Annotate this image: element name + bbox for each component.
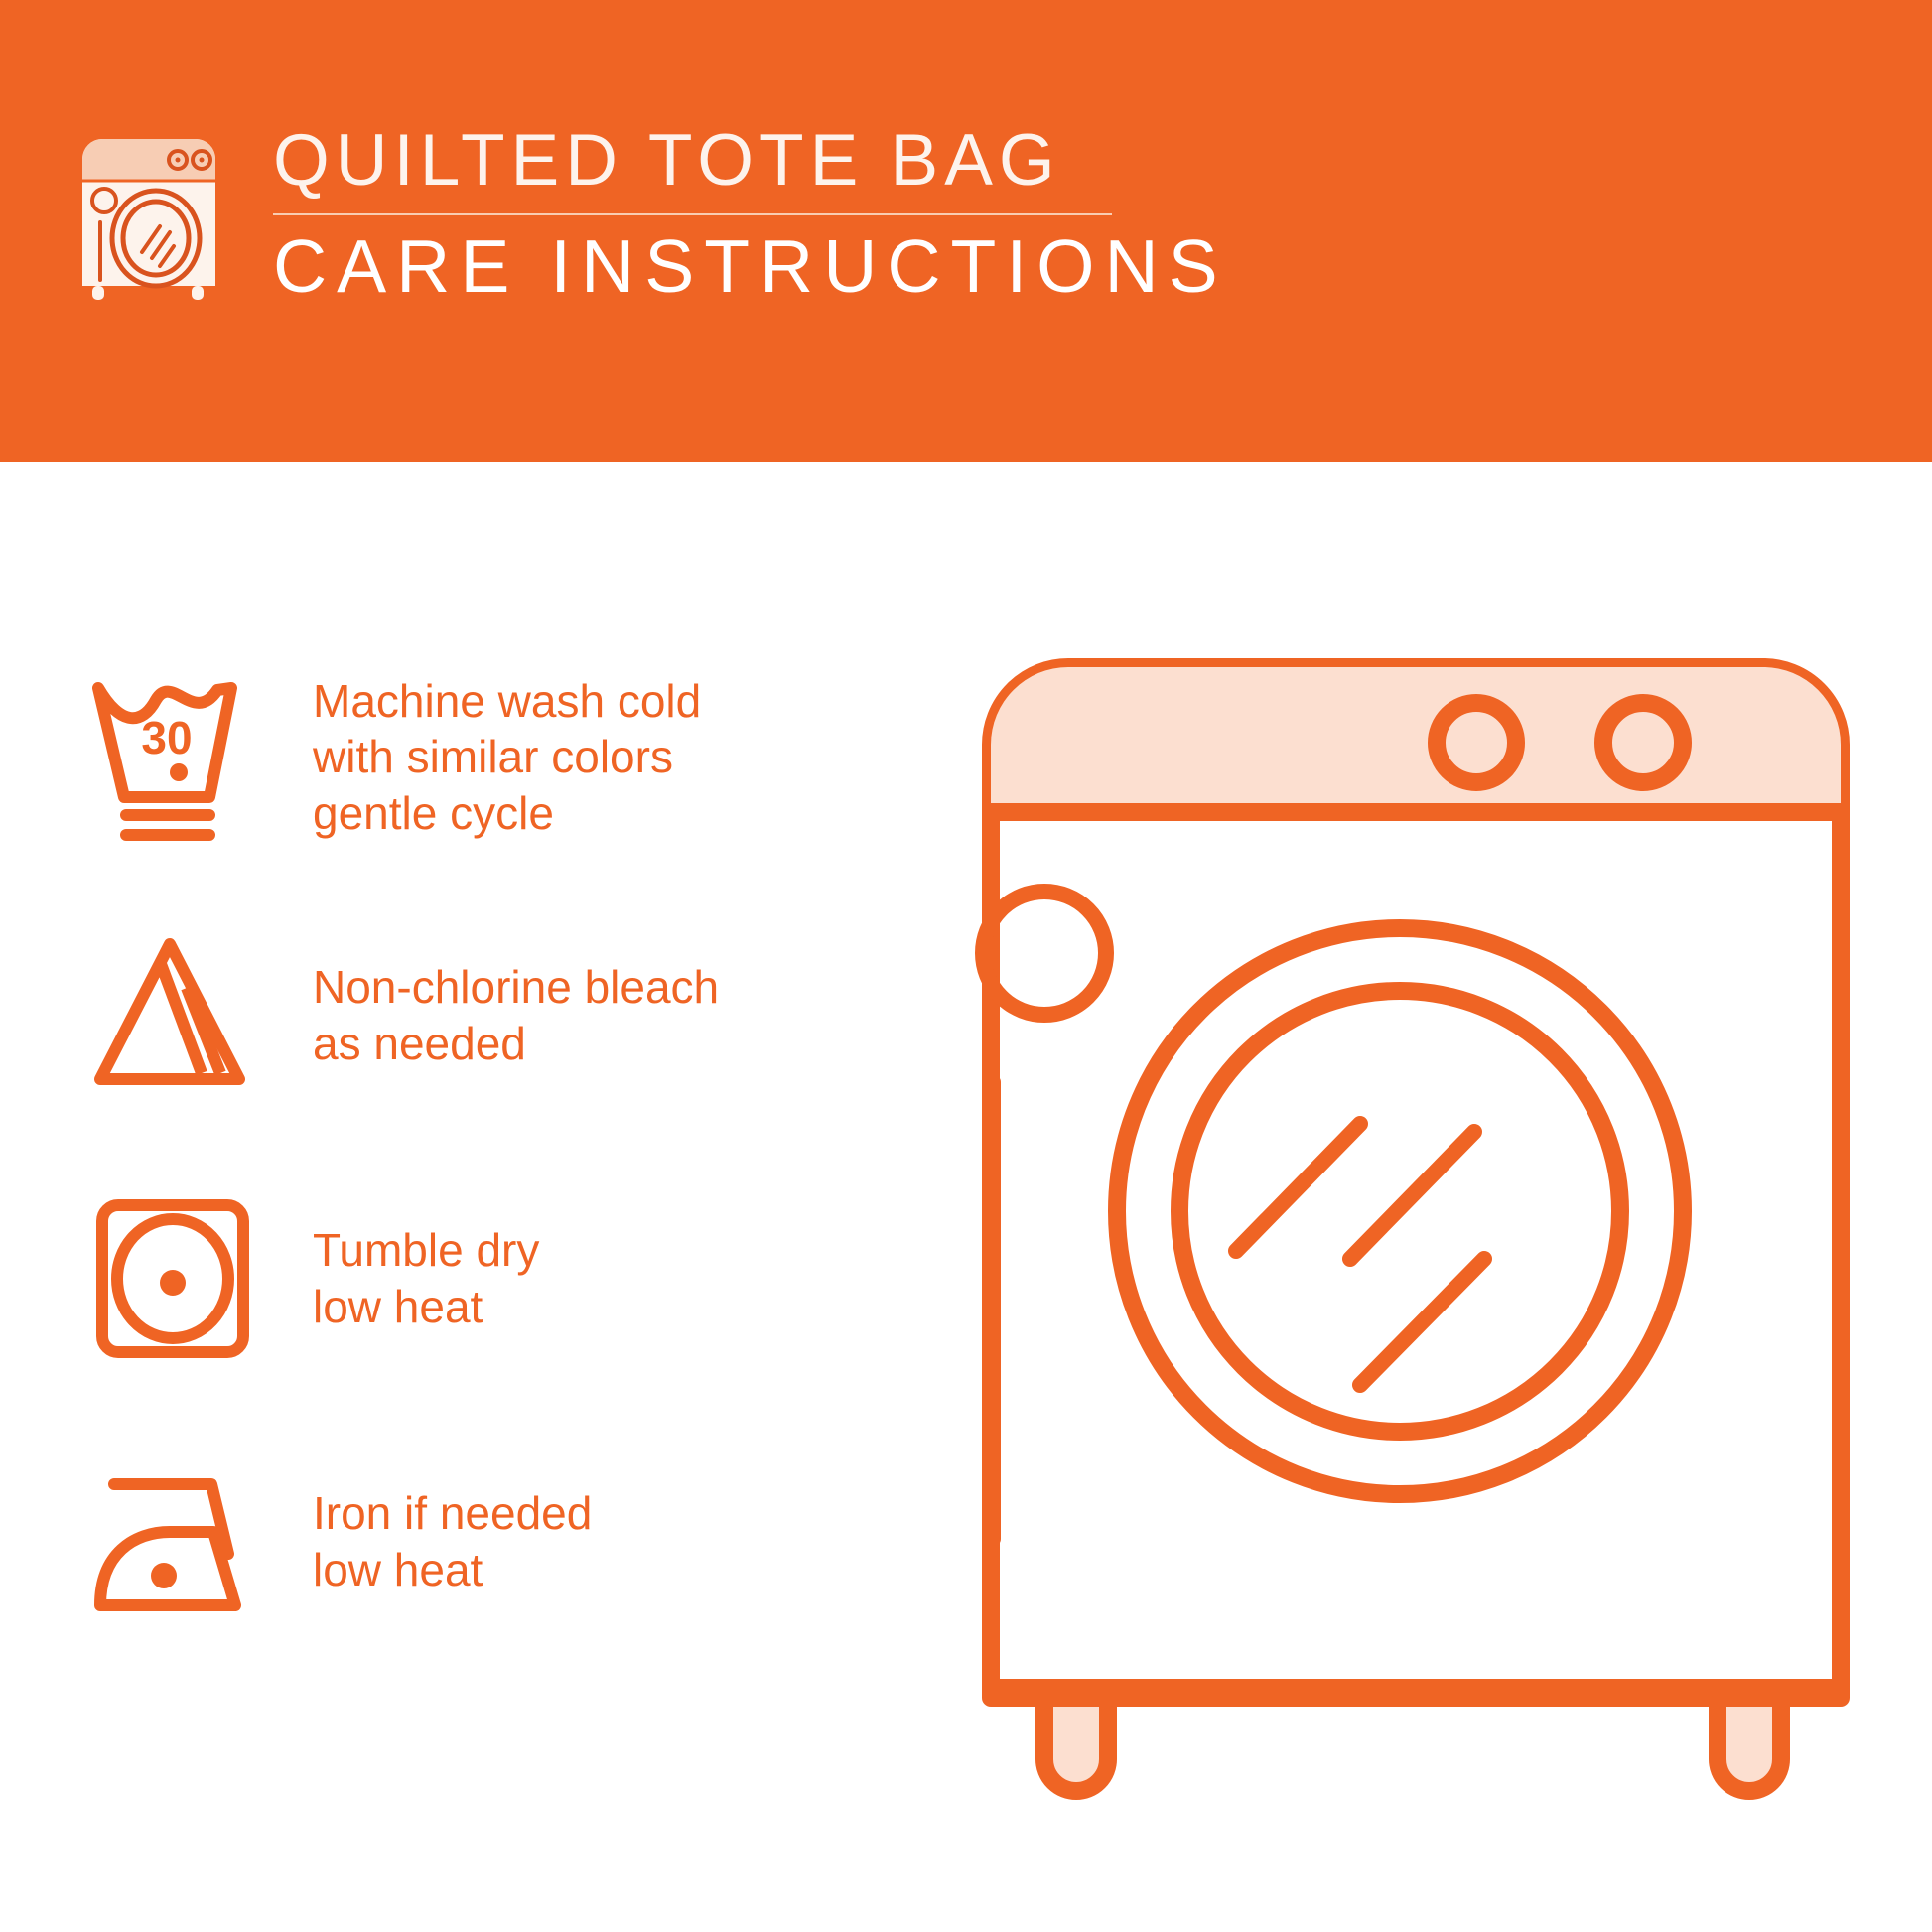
title-divider <box>273 213 1112 215</box>
wash-temperature-value: 30 <box>141 712 192 763</box>
control-panel <box>991 667 1841 812</box>
header-title-group: QUILTED TOTE BAG CARE INSTRUCTIONS <box>273 124 1112 304</box>
care-label-bleach: Non-chlorine bleach as needed <box>313 959 719 1070</box>
care-label-machine-wash: Machine wash cold with similar colors ge… <box>313 673 701 840</box>
non-chlorine-bleach-triangle-icon <box>84 928 273 1102</box>
foot-right <box>1718 1698 1781 1791</box>
care-row-bleach: Non-chlorine bleach as needed <box>84 928 869 1102</box>
care-label-iron: Iron if needed low heat <box>313 1485 592 1596</box>
page-title: QUILTED TOTE BAG <box>273 124 1112 207</box>
care-row-machine-wash: 30 Machine wash cold with similar colors… <box>84 670 869 844</box>
foot-left <box>1044 1698 1108 1791</box>
header-content: QUILTED TOTE BAG CARE INSTRUCTIONS <box>74 124 1112 304</box>
care-row-tumble-dry: Tumble dry low heat <box>84 1191 869 1365</box>
page-subtitle: CARE INSTRUCTIONS <box>273 229 1112 304</box>
header-banner: QUILTED TOTE BAG CARE INSTRUCTIONS <box>0 0 1932 462</box>
iron-low-heat-icon <box>84 1454 273 1628</box>
care-label-tumble-dry: Tumble dry low heat <box>313 1222 539 1333</box>
front-load-washing-machine-illustration <box>933 616 1886 1906</box>
washing-machine-icon <box>74 131 223 302</box>
care-instructions-list: 30 Machine wash cold with similar colors… <box>0 462 894 1932</box>
machine-wash-basin-30-icon: 30 <box>84 670 273 844</box>
knob-right <box>1603 703 1683 782</box>
knob-left <box>1437 703 1516 782</box>
tumble-dry-low-heat-icon <box>84 1191 273 1365</box>
care-row-iron: Iron if needed low heat <box>84 1454 869 1628</box>
